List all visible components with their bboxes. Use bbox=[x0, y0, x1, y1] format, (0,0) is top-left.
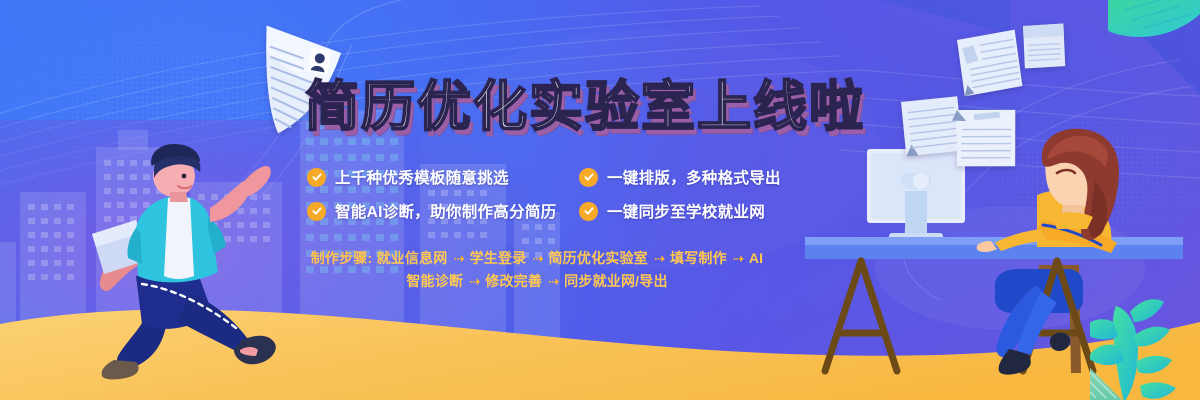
feature-item-2: 一键排版，多种格式导出 bbox=[579, 166, 807, 188]
feature-item-4: 一键同步至学校就业网 bbox=[579, 200, 807, 222]
page-title: 简历优化实验室上线啦 bbox=[305, 62, 865, 141]
step-item-7: 同步就业网/导出 bbox=[564, 273, 668, 289]
feature-label: 一键排版，多种格式导出 bbox=[607, 166, 781, 188]
step-item-6: 修改完善 bbox=[485, 273, 542, 289]
step-item-3: 简历优化实验室 bbox=[548, 250, 647, 266]
banner-content: 简历优化实验室上线啦 上千种优秀模板随意挑选 一键排版，多种格式导出 智能AI诊… bbox=[0, 0, 1200, 400]
arrow-icon: ⇢ bbox=[731, 251, 745, 266]
arrow-icon: ⇢ bbox=[546, 274, 560, 289]
feature-label: 一键同步至学校就业网 bbox=[607, 200, 765, 222]
step-item-4: 填写制作 bbox=[670, 250, 727, 266]
promo-banner: 简历优化实验室上线啦 上千种优秀模板随意挑选 一键排版，多种格式导出 智能AI诊… bbox=[0, 0, 1200, 400]
check-circle-icon bbox=[307, 202, 326, 221]
arrow-icon: ⇢ bbox=[467, 274, 481, 289]
step-item-1: 就业信息网 bbox=[376, 250, 447, 266]
arrow-icon: ⇢ bbox=[452, 251, 466, 266]
check-circle-icon bbox=[307, 168, 326, 187]
feature-item-1: 上千种优秀模板随意挑选 bbox=[307, 166, 579, 188]
arrow-icon: ⇢ bbox=[530, 251, 544, 266]
steps-lead-label: 制作步骤: bbox=[311, 250, 373, 266]
step-item-2: 学生登录 bbox=[470, 250, 527, 266]
feature-label: 智能AI诊断，助你制作高分简历 bbox=[335, 200, 557, 222]
feature-list: 上千种优秀模板随意挑选 一键排版，多种格式导出 智能AI诊断，助你制作高分简历 … bbox=[307, 160, 807, 228]
feature-item-3: 智能AI诊断，助你制作高分简历 bbox=[307, 200, 579, 222]
arrow-icon: ⇢ bbox=[652, 251, 666, 266]
steps-flow: 制作步骤: 就业信息网 ⇢ 学生登录 ⇢ 简历优化实验室 ⇢ 填写制作 ⇢ AI… bbox=[307, 247, 767, 293]
check-circle-icon bbox=[579, 202, 598, 221]
check-circle-icon bbox=[579, 168, 598, 187]
feature-label: 上千种优秀模板随意挑选 bbox=[335, 166, 509, 188]
